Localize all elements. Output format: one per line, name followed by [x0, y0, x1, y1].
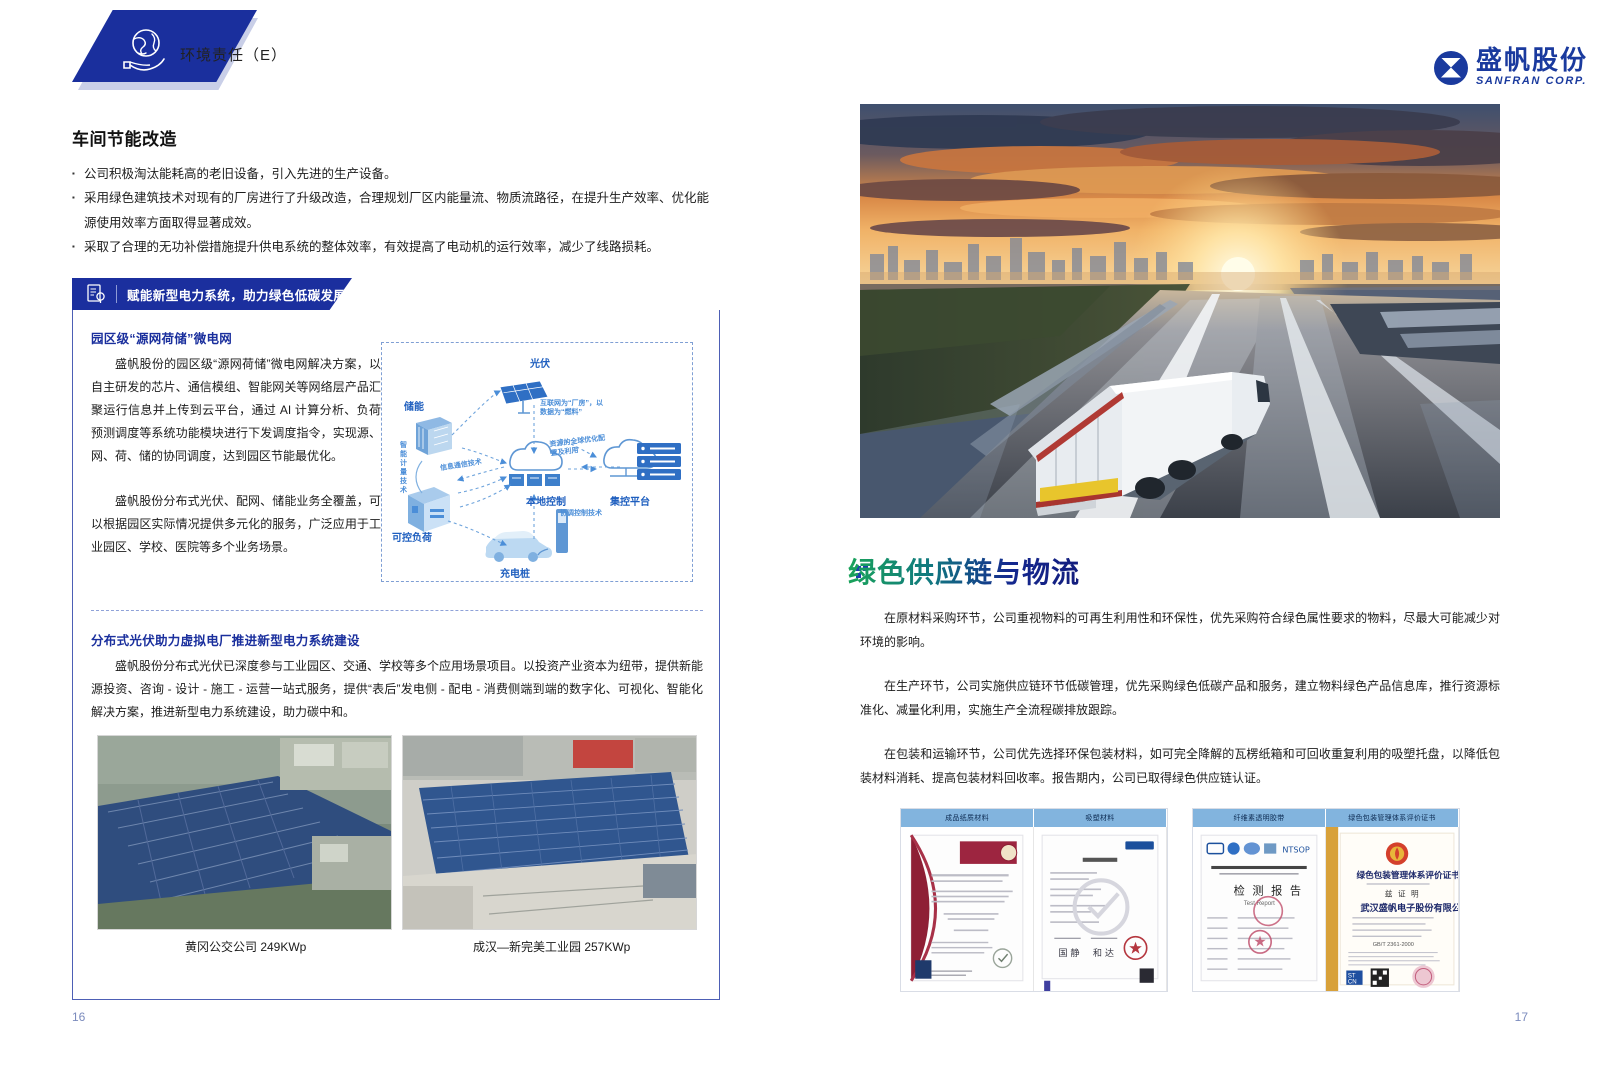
- certificate-column: 绿色包装管理体系评价证书 绿色包装管理体系评价证书 兹 证 明: [1326, 809, 1459, 991]
- certificate-header: 成品纸质材料: [901, 809, 1034, 827]
- green-packaging-management-certificate: 绿色包装管理体系评价证书 兹 证 明 武汉盛帆电子股份有限公司 GB/T 236…: [1326, 827, 1459, 991]
- certificate-header: 纤维素透明胶带: [1193, 809, 1326, 827]
- list-item: 公司积极淘汰能耗高的老旧设备，引入先进的生产设备。: [72, 162, 720, 186]
- certificate-group-green-packaging: 纤维素透明胶带 NTSOP: [1192, 808, 1460, 992]
- brand-name-cn: 盛帆股份: [1476, 48, 1588, 74]
- svg-text:武汉盛帆电子股份有限公司: 武汉盛帆电子股份有限公司: [1361, 902, 1458, 914]
- svg-text:检 测 报 告: 检 测 报 告: [1234, 884, 1304, 898]
- brand-logo: 盛帆股份 SANFRAN CORP.: [1434, 48, 1588, 87]
- report-spread: 环境责任（E） 车间节能改造 公司积极淘汰能耗高的老旧设备，引入先进的生产设备。…: [0, 0, 1600, 1085]
- brand-wordmark: 盛帆股份 SANFRAN CORP.: [1476, 48, 1588, 87]
- truck-highway-sunset-photo: [860, 104, 1500, 518]
- section-tab: 环境责任（E）: [72, 10, 332, 90]
- diagram-annotation-metering: 智能计量技术: [398, 441, 407, 495]
- ribbon-divider: [116, 285, 117, 303]
- certificate-column: 纤维素透明胶带 NTSOP: [1193, 809, 1326, 991]
- card-divider: [91, 610, 703, 611]
- photo-caption: 成汉—新完美工业园 257KWp: [473, 938, 630, 955]
- cellulose-tape-test-report: NTSOP 检 测 报 告 Test Report: [1193, 827, 1326, 991]
- diagram-label-pv: 光伏: [530, 355, 550, 370]
- article-paragraph: 盛帆股份分布式光伏、配网、储能业务全覆盖，可以根据园区实际情况提供多元化的服务，…: [91, 490, 381, 559]
- svg-text:CN: CN: [1348, 978, 1357, 985]
- certificate-header: 绿色包装管理体系评价证书: [1326, 809, 1459, 827]
- svg-text:和 达: 和 达: [1093, 947, 1114, 959]
- body-paragraph: 在包装和运输环节，公司优先选择环保包装材料，如可完全降解的瓦楞纸箱和可回收重复利…: [860, 742, 1500, 790]
- diagram-label-charging: 充电桩: [500, 565, 530, 580]
- left-page: 环境责任（E） 车间节能改造 公司积极淘汰能耗高的老旧设备，引入先进的生产设备。…: [0, 0, 800, 1085]
- diagram-label-local-control: 本地控制: [526, 493, 566, 508]
- photo-caption: 黄冈公交公司 249KWp: [185, 938, 306, 955]
- diagram-label-central-platform: 集控平台: [610, 493, 650, 508]
- sanfran-mark-icon: [1434, 51, 1468, 85]
- photo-row: [97, 735, 697, 930]
- diagram-label-storage: 储能: [404, 398, 424, 413]
- article-paragraph: 盛帆股份分布式光伏已深度参与工业园区、交通、学校等多个应用场景项目。以投资产业资…: [91, 655, 703, 724]
- certificate-gallery: 成品纸质材料: [900, 808, 1460, 992]
- article-microgrid: 园区级“源网荷储”微电网 盛帆股份的园区级“源网荷储”微电网解决方案，以自主研发…: [91, 328, 381, 559]
- page-number-right: 17: [1515, 1010, 1528, 1024]
- svg-text:国 静: 国 静: [1058, 947, 1079, 959]
- paper-material-certificate: [901, 827, 1034, 991]
- chenghan-industrial-park-solar-photo: [402, 735, 697, 930]
- content-card: 园区级“源网荷储”微电网 盛帆股份的园区级“源网荷储”微电网解决方案，以自主研发…: [72, 310, 720, 1000]
- bullet-list: 公司积极淘汰能耗高的老旧设备，引入先进的生产设备。 采用绿色建筑技术对现有的厂房…: [72, 162, 720, 260]
- feature-ribbon: 赋能新型电力系统，助力绿色低碳发展: [72, 278, 362, 310]
- svg-text:绿色包装管理体系评价证书: 绿色包装管理体系评价证书: [1356, 869, 1458, 881]
- diagram-annotation-internet-factory: 互联网为“厂房”，以数据为“燃料”: [540, 399, 608, 418]
- brand-name-en: SANFRAN CORP.: [1476, 76, 1588, 87]
- battery-rack-icon: [416, 417, 452, 455]
- svg-text:兹 证 明: 兹 证 明: [1385, 889, 1420, 899]
- diagram-label-load: 可控负荷: [392, 529, 432, 544]
- huanggang-bus-solar-photo: [97, 735, 392, 930]
- certificate-header: 吸塑材料: [1034, 809, 1167, 827]
- microgrid-diagram-graphic: [382, 343, 694, 583]
- article-distributed-pv: 分布式光伏助力虚拟电厂推进新型电力系统建设 盛帆股份分布式光伏已深度参与工业园区…: [91, 630, 703, 724]
- certificate-column: 成品纸质材料: [901, 809, 1034, 991]
- ev-charging-icon: [486, 509, 569, 562]
- svg-text:Test Report: Test Report: [1244, 900, 1275, 907]
- page-title: 车间节能改造: [72, 125, 177, 150]
- diagram-annotation-coordination: 协调控制技术: [560, 509, 602, 518]
- svg-text:GB/T 2361-2000: GB/T 2361-2000: [1373, 942, 1414, 948]
- certificate-group-packaging-materials: 成品纸质材料: [900, 808, 1168, 992]
- feature-ribbon-label: 赋能新型电力系统，助力绿色低碳发展: [127, 285, 346, 304]
- section-heading: 绿色供应链与物流: [848, 551, 1080, 591]
- article-paragraph: 盛帆股份的园区级“源网荷储”微电网解决方案，以自主研发的芯片、通信模组、智能网关…: [91, 353, 381, 468]
- svg-text:NTSOP: NTSOP: [1282, 845, 1310, 855]
- body-paragraph: 在原材料采购环节，公司重视物料的可再生利用性和环保性，优先采购符合绿色属性要求的…: [860, 606, 1500, 654]
- earth-in-hand-icon: [116, 26, 172, 76]
- cloud-datacenter-icon: [604, 440, 681, 480]
- page-number-left: 16: [72, 1010, 85, 1024]
- feature-ribbon-body: 赋能新型电力系统，助力绿色低碳发展: [72, 278, 352, 310]
- article-heading: 分布式光伏助力虚拟电厂推进新型电力系统建设: [91, 630, 703, 649]
- certificate-column: 吸塑材料: [1034, 809, 1167, 991]
- section-body: 在原材料采购环节，公司重视物料的可再生利用性和环保性，优先采购符合绿色属性要求的…: [860, 606, 1500, 790]
- document-gear-icon: [86, 283, 106, 305]
- section-tab-label: 环境责任（E）: [180, 44, 287, 65]
- list-item: 采取了合理的无功补偿措施提升供电系统的整体效率，有效提高了电动机的运行效率，减少…: [72, 235, 720, 259]
- body-paragraph: 在生产环节，公司实施供应链环节低碳管理，优先采购绿色低碳产品和服务，建立物料绿色…: [860, 674, 1500, 722]
- right-page: 盛帆股份 SANFRAN CORP.: [800, 0, 1600, 1085]
- factory-icon: [408, 487, 450, 532]
- blister-material-test-report: 国 静 和 达: [1034, 827, 1167, 991]
- list-item: 采用绿色建筑技术对现有的厂房进行了升级改造，合理规划厂区内能量流、物质流路径，在…: [72, 186, 720, 235]
- article-heading: 园区级“源网荷储”微电网: [91, 328, 381, 347]
- source-grid-load-storage-microgrid-diagram: 光伏 储能 可控负荷 充电桩 本地控制 集控平台 智能计量技术 信息通信技术 协…: [381, 342, 693, 582]
